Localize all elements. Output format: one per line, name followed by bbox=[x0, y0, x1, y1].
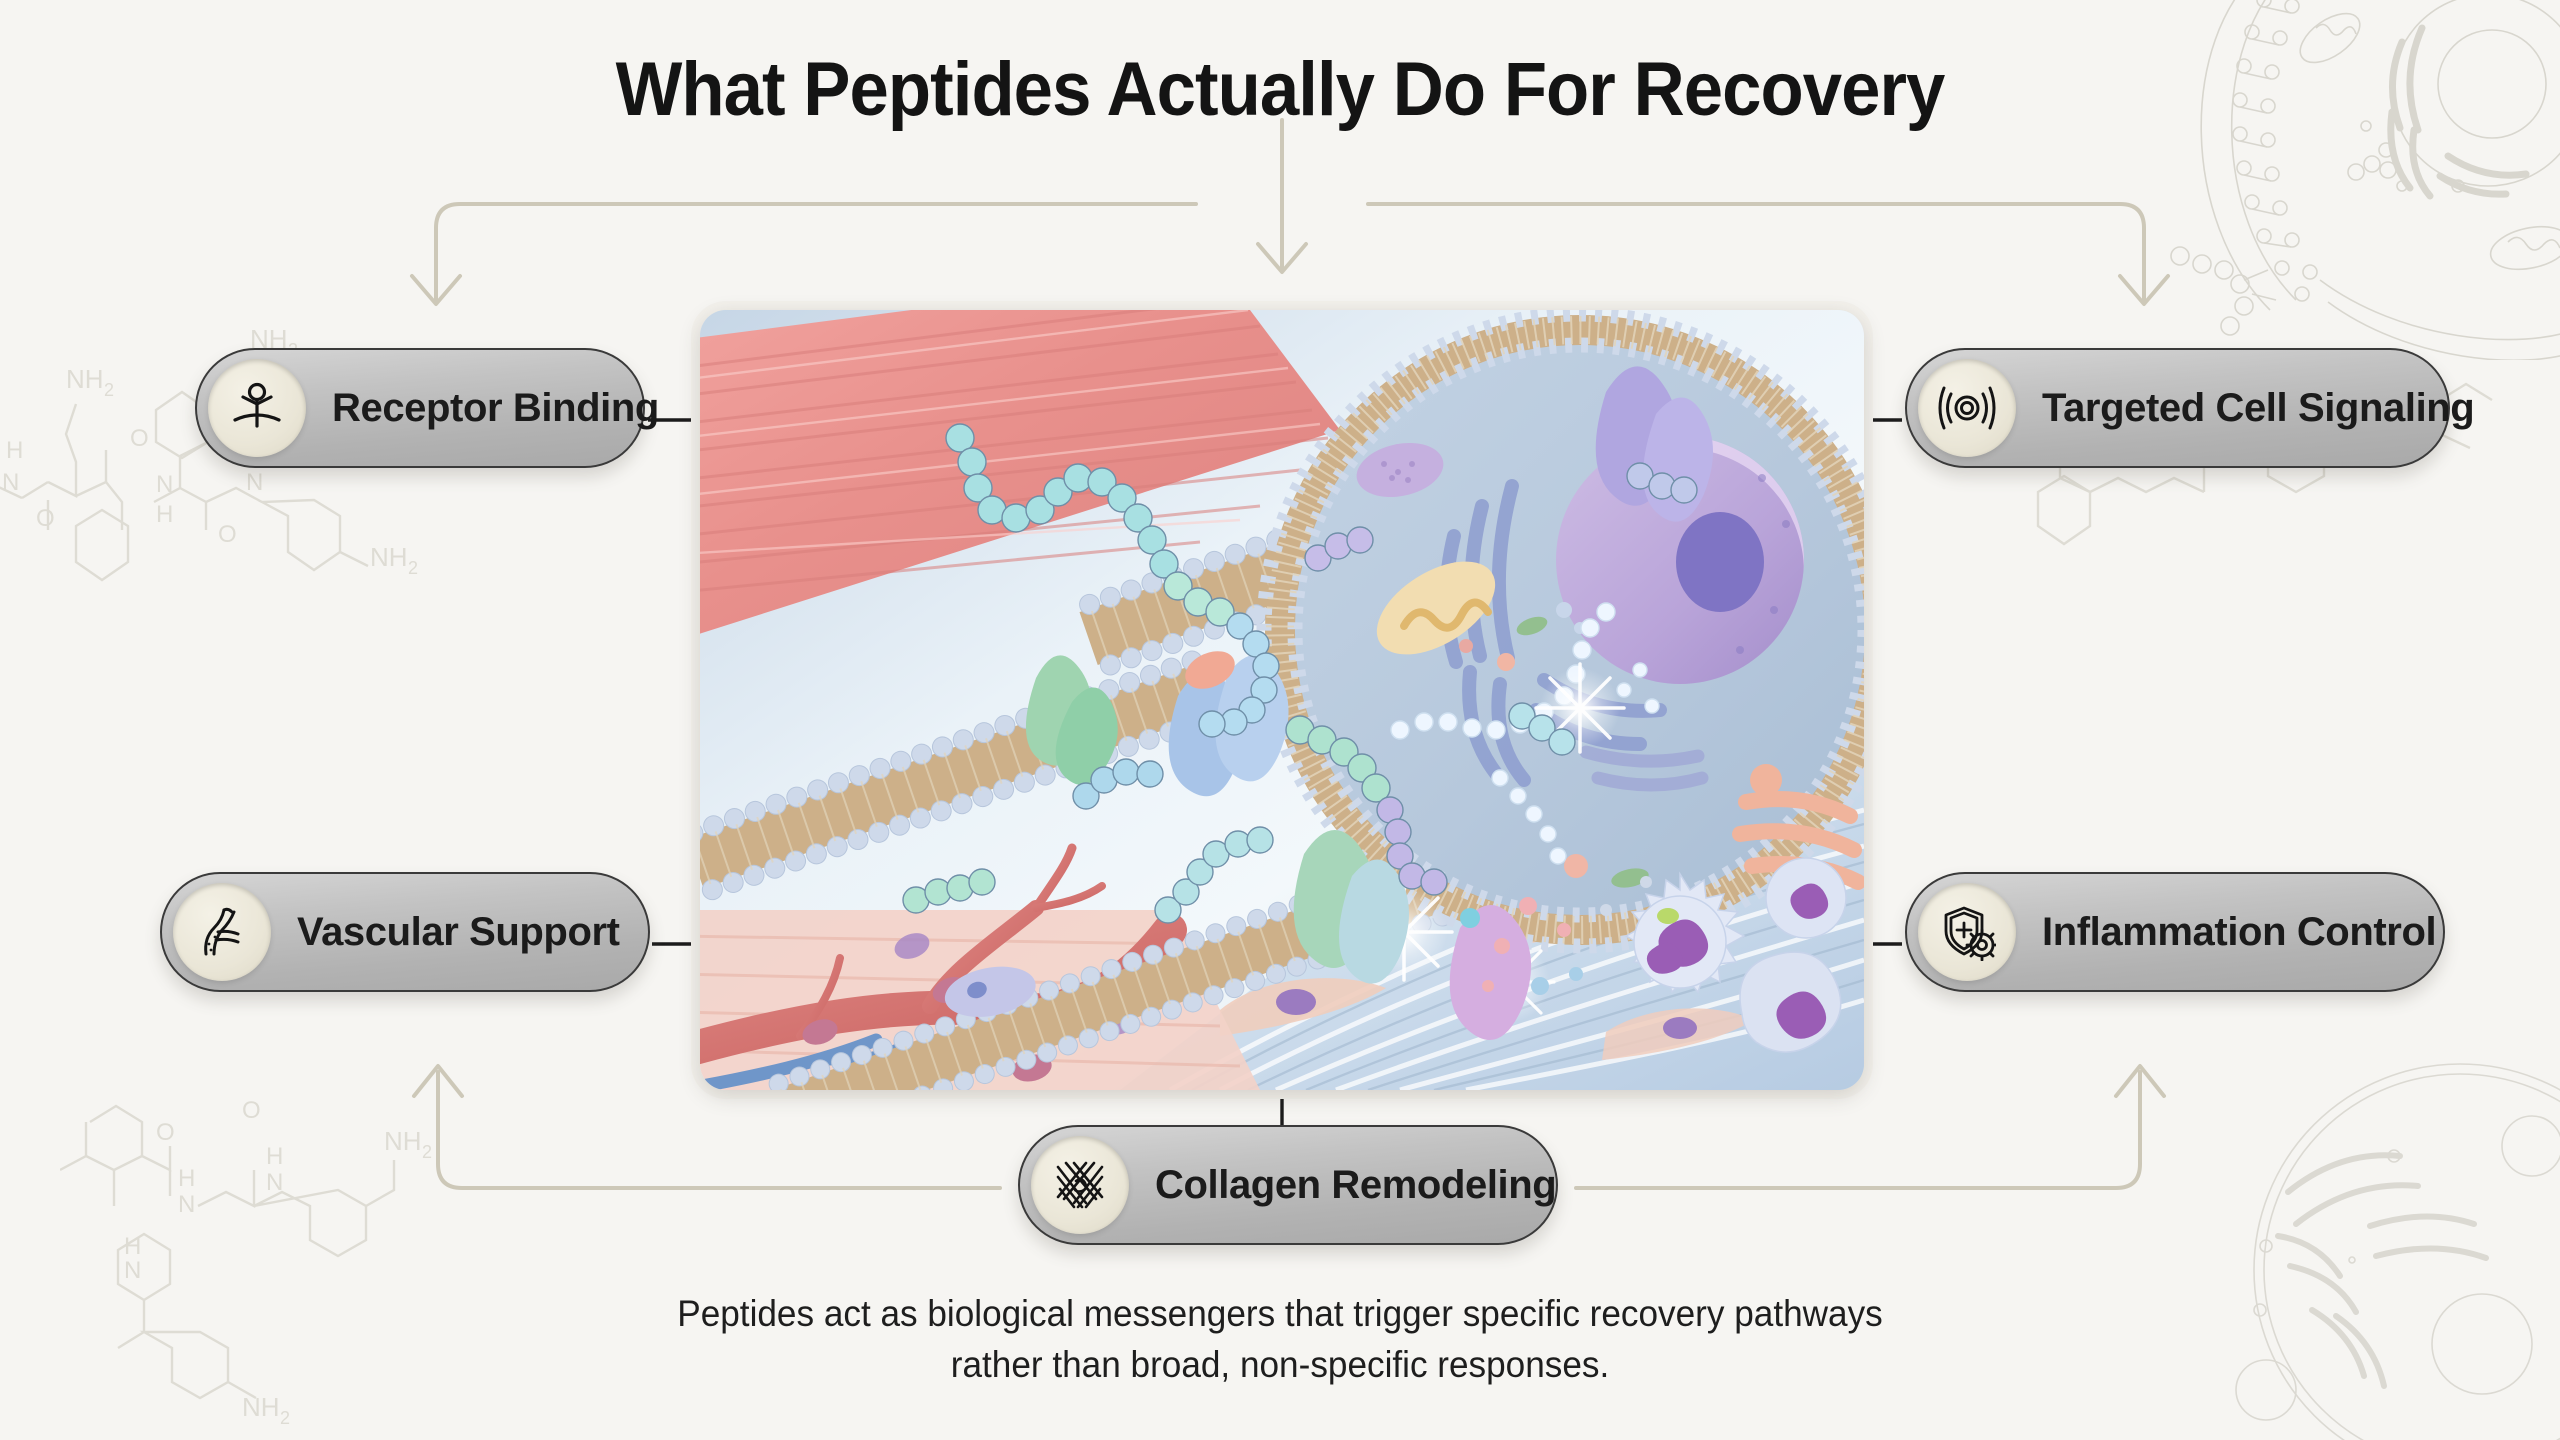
caption-line-1: Peptides act as biological messengers th… bbox=[64, 1288, 2496, 1339]
shield-virus-icon bbox=[1918, 883, 2016, 981]
node-label: Inflammation Control bbox=[2042, 910, 2436, 955]
node-receptor-binding[interactable]: Receptor Binding bbox=[195, 348, 645, 468]
node-label: Receptor Binding bbox=[332, 386, 659, 431]
arrow-to-targeted-signaling bbox=[1368, 204, 2168, 304]
node-vascular-support[interactable]: Vascular Support bbox=[160, 872, 650, 992]
node-collagen-remodeling[interactable]: Collagen Remodeling bbox=[1018, 1125, 1558, 1245]
node-label: Targeted Cell Signaling bbox=[2042, 386, 2474, 431]
woven-fibers-icon bbox=[1031, 1136, 1129, 1234]
arrow-to-receptor-binding bbox=[412, 204, 1196, 304]
node-targeted-signaling[interactable]: Targeted Cell Signaling bbox=[1905, 348, 2450, 468]
caption: Peptides act as biological messengers th… bbox=[64, 1288, 2496, 1390]
caption-line-2: rather than broad, non-specific response… bbox=[64, 1339, 2496, 1390]
blood-vessel-icon bbox=[173, 883, 271, 981]
signal-broadcast-icon bbox=[1918, 359, 2016, 457]
node-inflammation-control[interactable]: Inflammation Control bbox=[1905, 872, 2445, 992]
node-label: Vascular Support bbox=[297, 910, 620, 955]
arrow-title-to-hero bbox=[1258, 120, 1306, 272]
node-label: Collagen Remodeling bbox=[1155, 1163, 1556, 1208]
infographic-canvas: NH 2 NH 2 H N O O N H H N O NH 2 bbox=[0, 0, 2560, 1429]
hero-illustration bbox=[700, 310, 1864, 1090]
receptor-figure-icon bbox=[208, 359, 306, 457]
